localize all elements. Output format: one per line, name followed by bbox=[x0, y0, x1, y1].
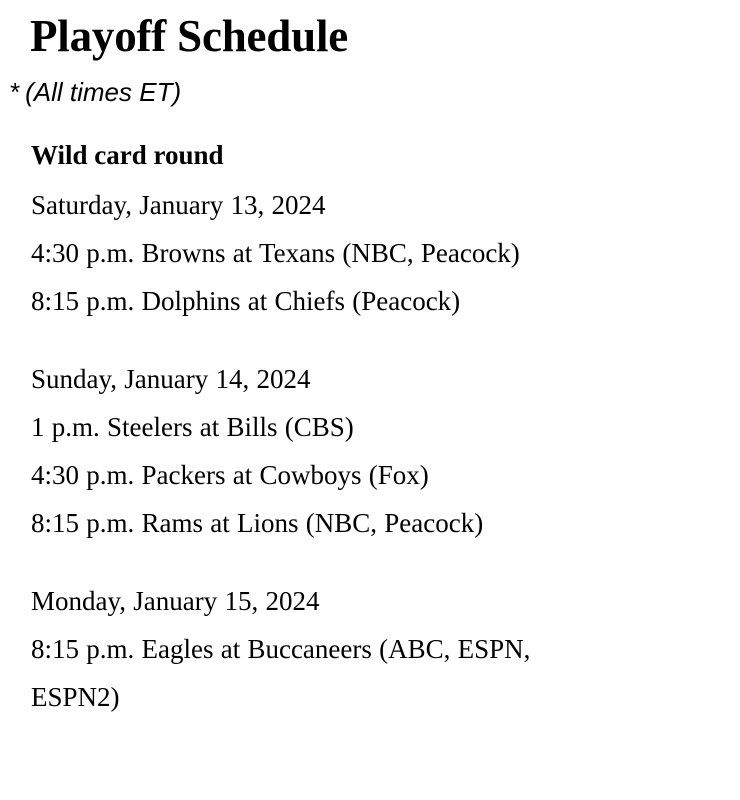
game-line: 8:15 p.m. Eagles at Buccaneers (ABC, ESP… bbox=[31, 625, 619, 721]
day-block: Sunday, January 14, 20241 p.m. Steelers … bbox=[31, 355, 619, 547]
game-line: 1 p.m. Steelers at Bills (CBS) bbox=[31, 403, 619, 451]
game-line: 4:30 p.m. Packers at Cowboys (Fox) bbox=[31, 451, 619, 499]
schedule-body: Saturday, January 13, 20244:30 p.m. Brow… bbox=[31, 181, 619, 721]
day-block: Saturday, January 13, 20244:30 p.m. Brow… bbox=[31, 181, 619, 325]
page-title: Playoff Schedule bbox=[30, 10, 630, 62]
day-date: Saturday, January 13, 2024 bbox=[31, 181, 619, 229]
day-block: Monday, January 15, 20248:15 p.m. Eagles… bbox=[31, 577, 619, 721]
day-date: Sunday, January 14, 2024 bbox=[31, 355, 619, 403]
asterisk-marker: * bbox=[9, 75, 19, 109]
all-times-note-text: (All times ET) bbox=[25, 77, 181, 107]
playoff-schedule-page: Playoff Schedule *(All times ET) Wild ca… bbox=[0, 0, 740, 800]
round-heading: Wild card round bbox=[31, 138, 631, 172]
day-date: Monday, January 15, 2024 bbox=[31, 577, 619, 625]
game-line: 8:15 p.m. Rams at Lions (NBC, Peacock) bbox=[31, 499, 619, 547]
game-line: 8:15 p.m. Dolphins at Chiefs (Peacock) bbox=[31, 277, 619, 325]
all-times-note: *(All times ET) bbox=[9, 75, 649, 109]
game-line: 4:30 p.m. Browns at Texans (NBC, Peacock… bbox=[31, 229, 619, 277]
